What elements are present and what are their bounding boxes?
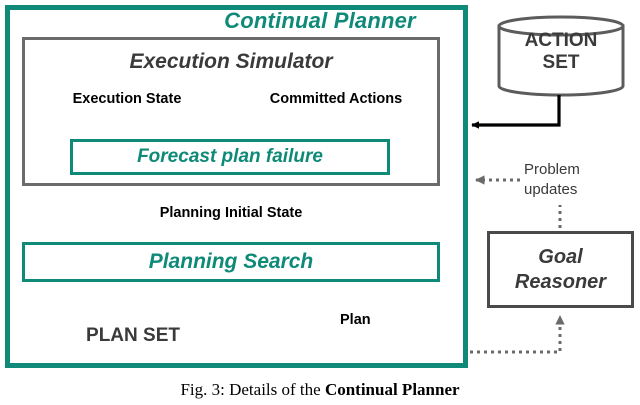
- action-set-label: ACTION SET: [497, 30, 625, 74]
- forecast-plan-failure-label: Forecast plan failure: [137, 146, 323, 168]
- action-set-line-1: ACTION: [525, 30, 598, 51]
- planning-initial-state-label: Planning Initial State: [22, 205, 440, 221]
- plan-set-label: PLAN SET: [56, 325, 210, 347]
- goal-reasoner-label: Goal Reasoner: [515, 245, 606, 295]
- plan-edge-label: Plan: [340, 312, 371, 328]
- execution-simulator-title: Execution Simulator: [22, 50, 440, 74]
- dotted-plan-to-goalreasoner: [470, 316, 560, 352]
- forecast-plan-failure-box: Forecast plan failure: [70, 139, 390, 175]
- planning-search-box: Planning Search: [22, 242, 440, 282]
- planning-search-label: Planning Search: [149, 250, 314, 274]
- committed-actions-label: Committed Actions: [232, 91, 440, 107]
- goal-reasoner-box: Goal Reasoner: [487, 231, 634, 308]
- action-set-line-2: SET: [543, 52, 580, 73]
- problem-updates-line-1: Problem: [524, 161, 580, 178]
- figure-canvas: Continual Planner Execution Simulator Ex…: [0, 0, 640, 405]
- arrow-actionset-to-planner: [472, 95, 559, 125]
- problem-updates-line-2: updates: [524, 181, 577, 198]
- problem-updates-label: Problem updates: [524, 160, 580, 200]
- figure-caption: Fig. 3: Details of the Continual Planner: [0, 380, 640, 400]
- caption-prefix: Fig. 3: Details of the: [180, 380, 324, 399]
- caption-bold-term: Continual Planner: [325, 380, 460, 399]
- execution-state-label: Execution State: [22, 91, 232, 107]
- goal-reasoner-line-2: Reasoner: [515, 271, 606, 293]
- goal-reasoner-line-1: Goal: [538, 246, 582, 268]
